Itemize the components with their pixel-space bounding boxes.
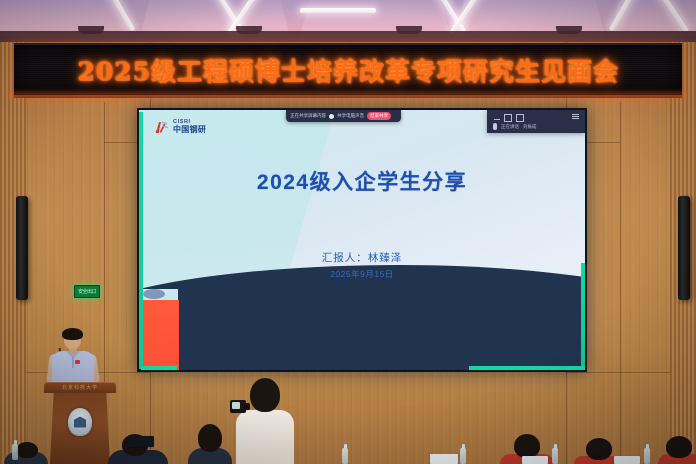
- emergency-exit-sign: 安全出口: [74, 285, 100, 298]
- slide-accent-left: [139, 112, 143, 369]
- speaking-label: 正在讲话: [501, 124, 519, 130]
- speaker-placket: [72, 356, 74, 368]
- audience-3-head: [16, 442, 38, 458]
- presentation-slide[interactable]: CISRI 中国钢研 正在共享屏幕内容 共享电脑声音 结束共享: [139, 110, 585, 370]
- conference-hall-scene: 2025级工程硕博士培养改革专项研究生见面会 安全出口: [0, 0, 696, 464]
- line-array-speaker-right: [678, 196, 690, 300]
- slide-oval-accent: [143, 289, 165, 299]
- audience-6-head: [666, 436, 692, 458]
- led-banner: 2025级工程硕博士培养改革专项研究生见面会: [14, 43, 682, 98]
- water-bottle-1: [12, 444, 18, 460]
- share-cloud-icon[interactable]: [329, 114, 334, 119]
- speaker-hair: [62, 328, 83, 340]
- cisri-logo-mark: [153, 119, 170, 136]
- ceiling: [0, 0, 696, 44]
- exit-sign-label: 安全出口: [78, 288, 96, 295]
- screen-share-toolbar[interactable]: 正在共享屏幕内容 共享电脑声音 结束共享: [286, 110, 401, 122]
- meeting-mini-panel[interactable]: 正在讲话 刘振成: [487, 110, 585, 133]
- audience-4-head: [514, 434, 540, 458]
- water-bottle-2: [460, 448, 466, 464]
- handout-paper-1: [430, 454, 458, 464]
- projection-screen[interactable]: CISRI 中国钢研 正在共享屏幕内容 共享电脑声音 结束共享: [137, 108, 587, 372]
- slide-presenter: 汇报人：林臻泽: [139, 250, 585, 265]
- cisri-logo-chinese: 中国钢研: [173, 126, 206, 134]
- handout-paper-2: [522, 456, 548, 464]
- window-controls[interactable]: [494, 114, 524, 122]
- audience-member-1: [188, 424, 232, 464]
- share-audio-label[interactable]: 共享电脑声音: [337, 113, 364, 119]
- audience-member-6: [658, 436, 696, 464]
- speaker-badge: [75, 360, 80, 364]
- audience-5-head: [586, 438, 612, 460]
- camera-operator-head: [250, 378, 280, 412]
- participant-name: 刘振成: [523, 124, 537, 130]
- audience-1-head: [198, 424, 222, 452]
- slide-accent-bottom: [469, 366, 585, 370]
- minimize-icon[interactable]: [494, 116, 500, 120]
- slide-red-block: [141, 300, 179, 370]
- ceiling-light-3: [300, 8, 376, 13]
- water-bottle-3: [552, 448, 558, 464]
- speaking-indicator: 正在讲话 刘振成: [493, 123, 537, 130]
- podium-label: 北京科技大学: [44, 384, 116, 391]
- slide-date: 2025年9月15日: [139, 268, 585, 280]
- water-bottle-5: [342, 448, 348, 464]
- camera-operator: [232, 378, 304, 464]
- share-status-label: 正在共享屏幕内容: [290, 113, 326, 119]
- slide-navy-curve: [139, 265, 585, 370]
- camera-screen: [232, 402, 240, 409]
- restore-icon[interactable]: [516, 114, 524, 122]
- maximize-icon[interactable]: [504, 114, 512, 122]
- camera-operator-body: [236, 410, 294, 464]
- line-array-speaker-left: [16, 196, 28, 300]
- podium-top: 北京科技大学: [44, 382, 116, 393]
- stop-share-button[interactable]: 结束共享: [367, 112, 391, 120]
- slide-accent-bottom-left: [141, 366, 177, 370]
- hamburger-icon[interactable]: [572, 114, 579, 120]
- audience-member-3: [4, 442, 48, 464]
- led-banner-text: 2025级工程硕博士培养改革专项研究生见面会: [77, 52, 619, 88]
- handheld-phone: [128, 436, 154, 447]
- podium: 北京科技大学: [44, 382, 116, 464]
- water-bottle-4: [644, 448, 650, 464]
- handout-paper-3: [614, 456, 640, 464]
- slide-title: 2024级入企学生分享: [139, 166, 585, 196]
- microphone-icon[interactable]: [493, 123, 497, 130]
- university-emblem: [68, 408, 92, 436]
- led-banner-glow: [8, 92, 688, 100]
- handheld-camera: [230, 400, 246, 413]
- cisri-logo: CISRI 中国钢研: [153, 119, 206, 136]
